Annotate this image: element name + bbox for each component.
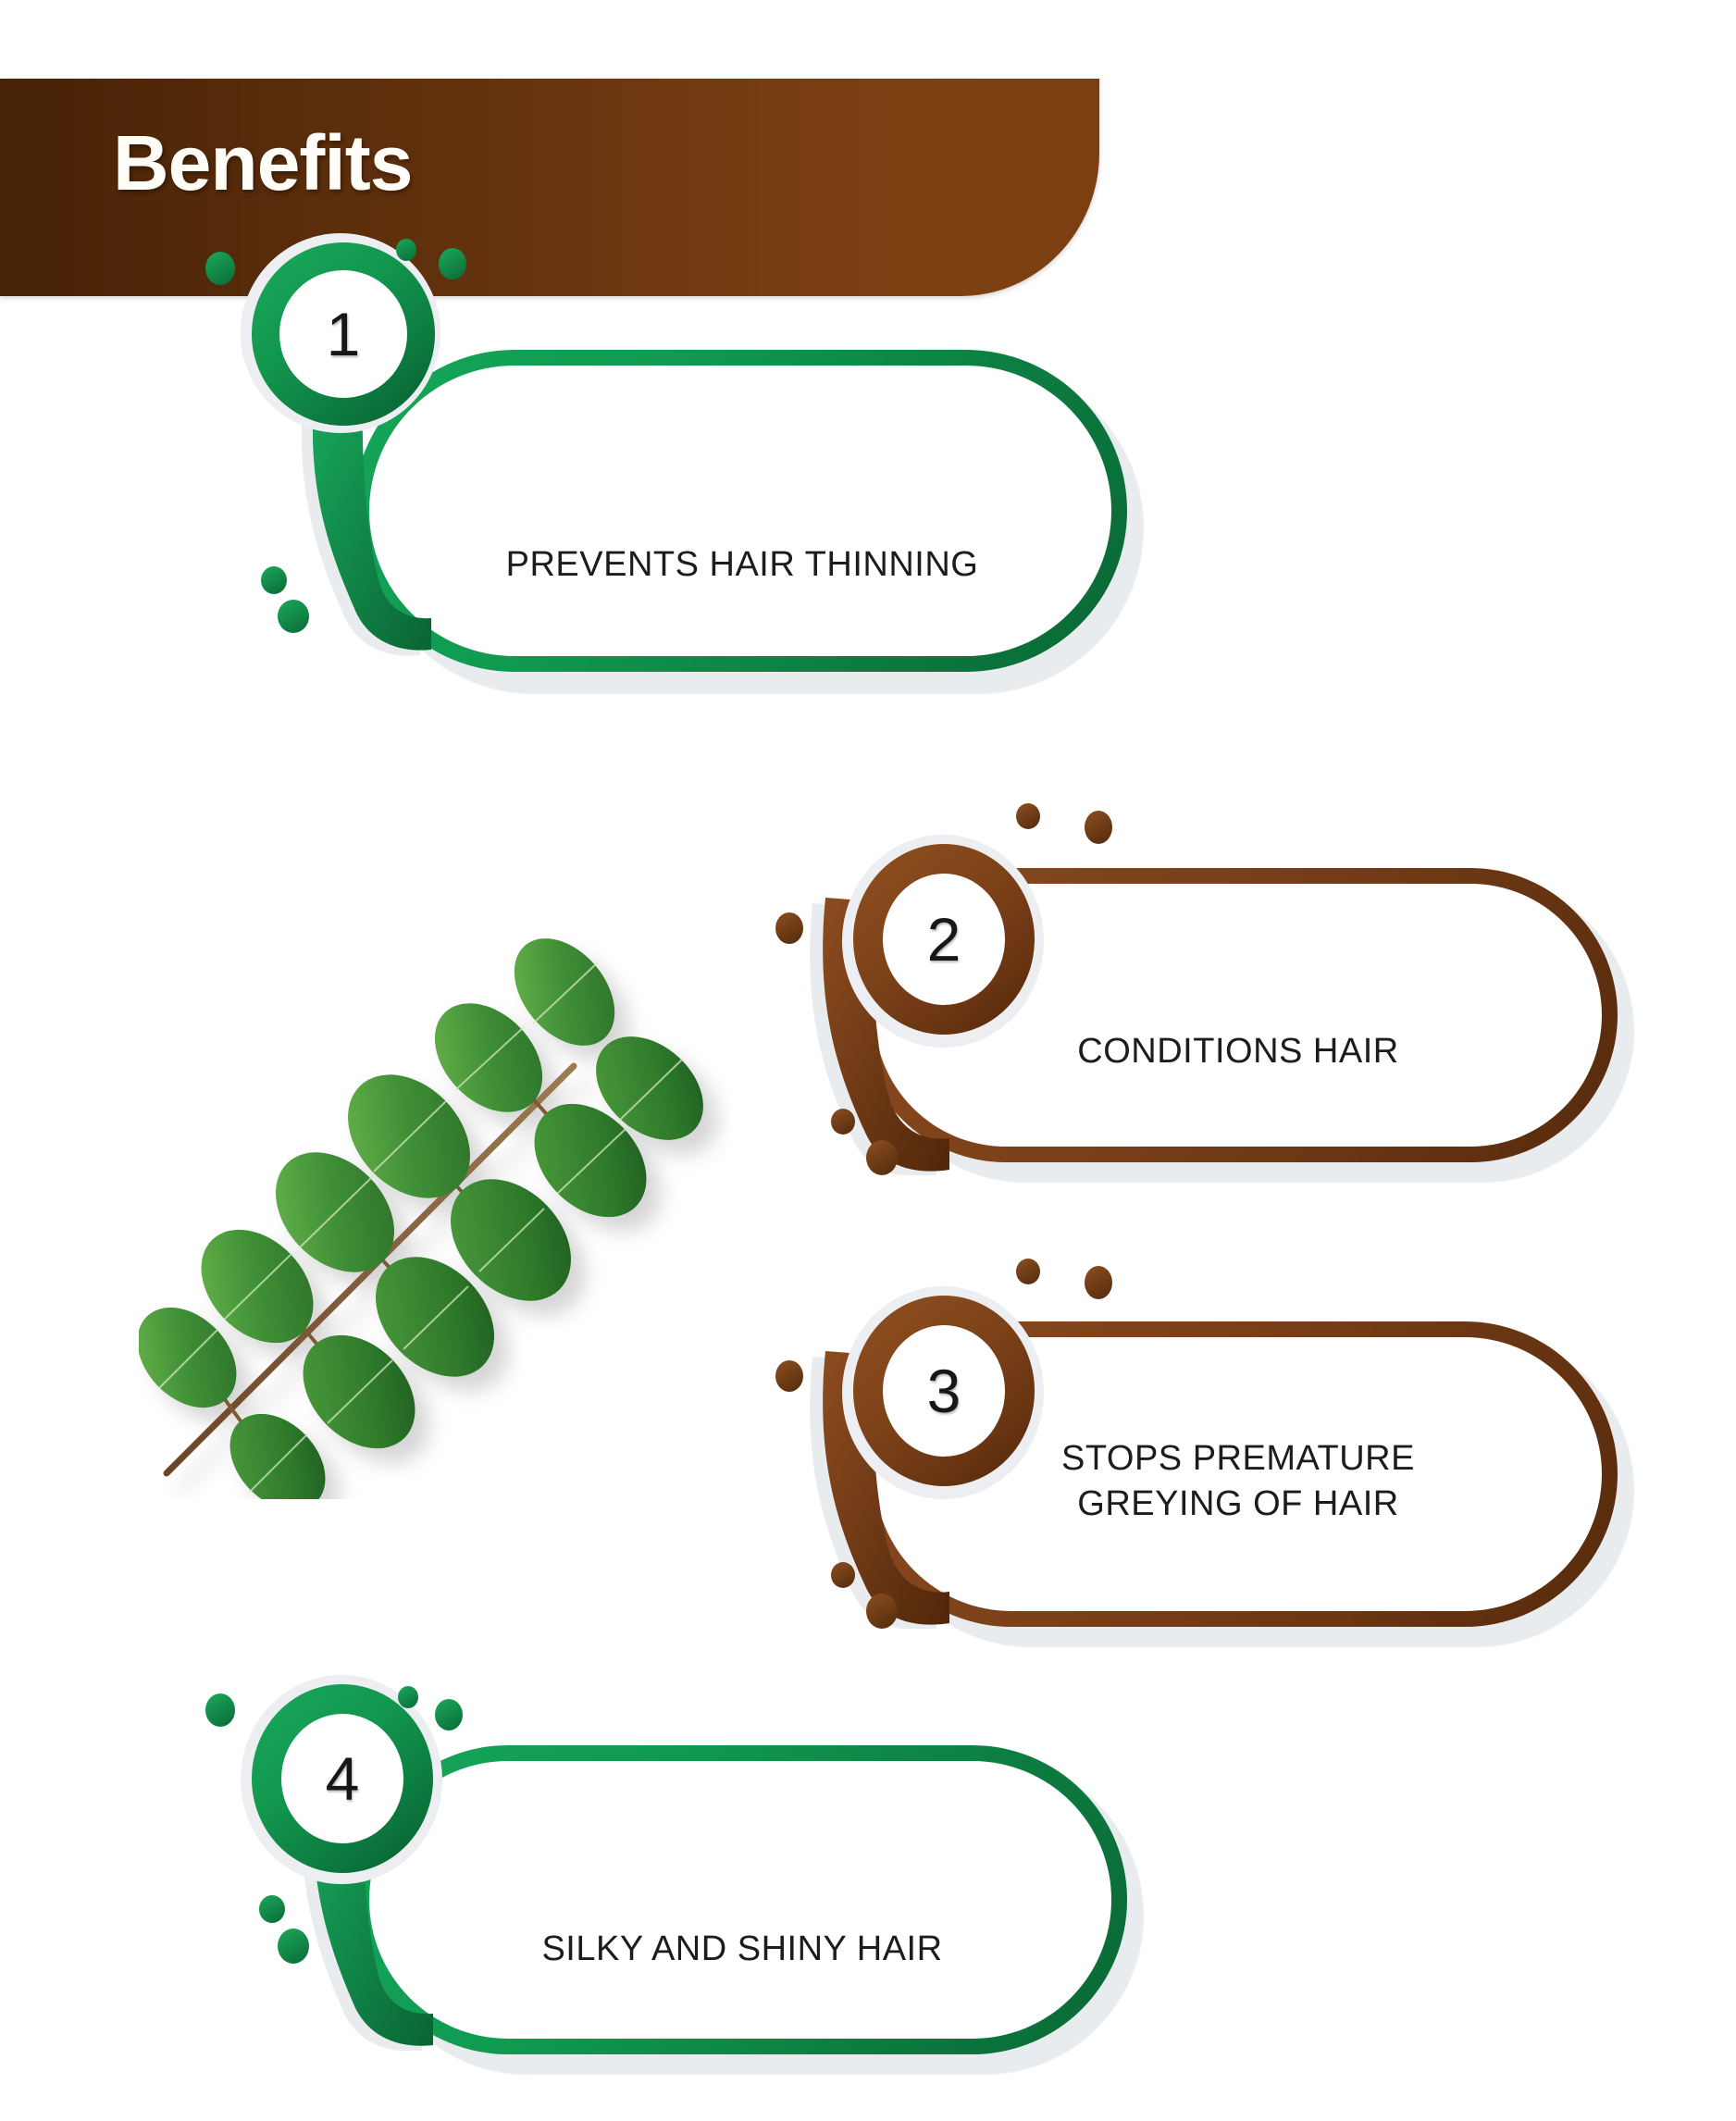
decor-dot	[1016, 1259, 1040, 1284]
decor-dot	[278, 1929, 309, 1964]
decor-dot	[775, 1360, 803, 1392]
decor-dot	[259, 1895, 285, 1923]
badge-circle-2[interactable]: 2	[853, 844, 1035, 1035]
badge-circle-4[interactable]: 4	[252, 1684, 433, 1873]
badge-number-4: 4	[281, 1714, 403, 1843]
decor-dot	[398, 1686, 418, 1708]
decor-dot	[1085, 1266, 1112, 1299]
decor-dot	[866, 1140, 898, 1175]
badge-number-1: 1	[279, 270, 407, 398]
decor-dot	[1085, 811, 1112, 844]
decor-dot	[435, 1699, 463, 1730]
badge-circle-3[interactable]: 3	[853, 1296, 1035, 1486]
decor-dot	[831, 1562, 855, 1588]
decor-dot	[205, 252, 235, 285]
decor-dot	[278, 600, 309, 633]
decor-dot	[831, 1109, 855, 1135]
badge-number-3: 3	[883, 1325, 1005, 1457]
badge-circle-1[interactable]: 1	[252, 242, 435, 426]
page-title: Benefits	[113, 118, 412, 208]
badge-number-2: 2	[883, 874, 1005, 1005]
decor-dot	[261, 566, 287, 594]
decor-dot	[396, 239, 416, 261]
leaf-illustration	[139, 907, 731, 1499]
poster-canvas: Benefits	[0, 0, 1736, 2121]
compound-leaf-icon	[139, 907, 731, 1499]
decor-dot	[775, 912, 803, 944]
decor-dot	[1016, 803, 1040, 829]
decor-dot	[866, 1594, 898, 1629]
decor-dot	[205, 1693, 235, 1727]
decor-dot	[439, 248, 466, 279]
